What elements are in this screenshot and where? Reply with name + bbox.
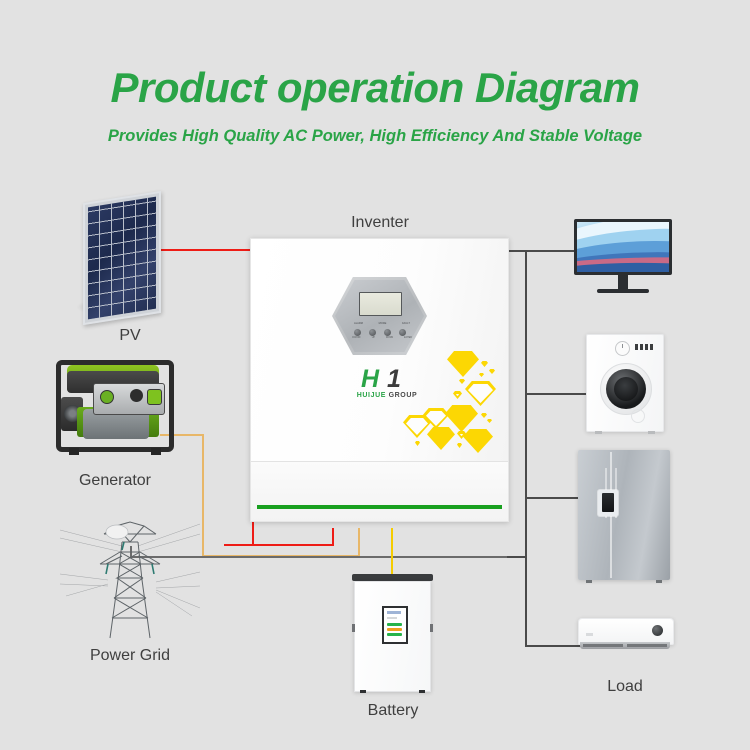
monitor-screen xyxy=(574,219,672,275)
diamond-icon-1 xyxy=(447,351,479,377)
wire-load-monitor xyxy=(525,250,581,252)
diamond-icon-9 xyxy=(489,369,495,374)
washer-door[interactable] xyxy=(600,363,652,415)
washer-program-dial[interactable] xyxy=(615,341,630,356)
battery-foot-right xyxy=(419,690,425,693)
battery-display-line xyxy=(387,617,397,619)
battery-display xyxy=(382,606,408,644)
washer-display-seg-2 xyxy=(640,344,643,350)
diamond-icon-7 xyxy=(463,429,493,453)
button-up[interactable] xyxy=(369,329,376,336)
battery-bar-2 xyxy=(387,628,402,631)
ac-sensor-icon xyxy=(652,625,663,636)
caption-down: DOWN xyxy=(386,337,393,343)
logo-numeral-one: 1 xyxy=(387,367,401,391)
power-grid-pylon xyxy=(60,512,200,640)
battery-body xyxy=(354,581,431,692)
battery-top-bar xyxy=(352,574,433,581)
diamond-icon-6 xyxy=(427,427,455,450)
battery-foot-left xyxy=(360,690,366,693)
wire-gen-vertical xyxy=(202,434,204,556)
ac-body xyxy=(578,618,674,645)
wire-load-bus xyxy=(525,250,527,647)
generator-foot-right xyxy=(151,448,161,455)
washer-door-glass xyxy=(606,369,646,409)
battery-bar-3 xyxy=(387,633,402,636)
monitor xyxy=(574,219,672,294)
ac-display xyxy=(586,633,593,636)
diamond-icon-3 xyxy=(445,405,478,432)
caption-enter: ENTER xyxy=(404,337,412,343)
washer-drum xyxy=(614,377,638,401)
washer-foot-left xyxy=(595,431,602,434)
pv-frame xyxy=(83,191,161,325)
label-load: Load xyxy=(565,678,685,696)
washer-display-seg-4 xyxy=(650,344,653,350)
logo-word-huijue: HUIJUE xyxy=(357,392,386,399)
inverter-footer: CAUTION SOLAR INVERTER Pure Sine Wave In… xyxy=(251,461,508,521)
diamond-icon-12 xyxy=(453,391,462,399)
indicator-labels: ALARM MODE FAULT xyxy=(354,322,410,327)
page-subtitle: Provides High Quality AC Power, High Eff… xyxy=(0,127,750,146)
wire-pv-horizontal xyxy=(150,249,254,251)
button-enter[interactable] xyxy=(399,329,406,336)
diamond-icon-10 xyxy=(479,373,484,377)
label-battery: Battery xyxy=(333,702,453,720)
diamond-icon-13 xyxy=(481,413,487,418)
air-conditioner xyxy=(578,618,672,651)
indicator-label-alarm: ALARM xyxy=(354,322,363,327)
diamond-icon-8 xyxy=(481,361,488,367)
inverter-button-captions: ON/OFF UP DOWN ENTER xyxy=(352,337,412,343)
diamond-icon-17 xyxy=(415,441,420,446)
wire-pv-bottom xyxy=(224,544,334,546)
inverter-green-bar xyxy=(257,505,502,509)
wire-load-feed xyxy=(507,556,527,558)
washer-control-panel xyxy=(593,340,658,355)
battery-unit xyxy=(354,574,431,692)
wire-load-top xyxy=(507,250,527,252)
indicator-label-mode: MODE xyxy=(379,322,387,327)
battery-bar-1 xyxy=(387,623,402,626)
washer-display-seg-1 xyxy=(635,344,638,350)
label-inverter: Inventer xyxy=(320,214,440,232)
washer-filter-cap xyxy=(631,409,645,423)
fridge-foot-left xyxy=(586,580,592,583)
wire-load-ac xyxy=(525,645,583,647)
monitor-stand-base xyxy=(597,289,649,293)
logo-letter-h: H xyxy=(361,367,377,391)
diamond-icon-2 xyxy=(465,381,496,406)
battery-bracket-right xyxy=(430,624,433,632)
monitor-wallpaper xyxy=(577,222,669,272)
washing-machine xyxy=(586,334,664,432)
indicator-label-fault: FAULT xyxy=(402,322,410,327)
battery-bracket-left xyxy=(352,624,355,632)
wire-gen-riser xyxy=(358,528,360,556)
inverter-unit: ALARM MODE FAULT ON/OFF UP DOWN ENTER xyxy=(250,238,509,522)
diamond-icon-14 xyxy=(487,419,492,423)
generator-frame xyxy=(56,360,174,452)
washer-foot-right xyxy=(648,431,655,434)
wire-battery-vertical xyxy=(391,528,393,576)
battery-display-logo xyxy=(387,611,401,614)
fridge-foot-right xyxy=(656,580,662,583)
wire-load-washer xyxy=(525,393,591,395)
page-title: Product operation Diagram xyxy=(0,64,750,112)
diamond-icon-11 xyxy=(459,379,465,384)
decorative-diamonds xyxy=(401,351,506,463)
pv-cells xyxy=(88,197,156,320)
inverter-face: ALARM MODE FAULT ON/OFF UP DOWN ENTER xyxy=(251,239,508,461)
wire-pv-riser xyxy=(332,528,334,546)
label-power-grid: Power Grid xyxy=(70,647,190,665)
generator xyxy=(53,357,177,455)
pv-panel xyxy=(83,191,161,325)
caption-up: UP xyxy=(372,337,375,343)
ac-slat-left xyxy=(583,644,623,647)
caption-onoff: ON/OFF xyxy=(352,337,361,343)
fridge-dispenser-recess xyxy=(602,493,614,512)
ac-slat-right xyxy=(627,644,667,647)
button-down[interactable] xyxy=(384,329,391,336)
label-pv: PV xyxy=(70,327,190,345)
product-operation-diagram: Product operation Diagram Provides High … xyxy=(0,0,750,750)
button-onoff[interactable] xyxy=(354,329,361,336)
wire-load-fridge xyxy=(525,497,583,499)
monitor-stand-neck xyxy=(618,275,628,289)
hex-bezel xyxy=(332,277,427,355)
inverter-display-panel[interactable]: ALARM MODE FAULT ON/OFF UP DOWN ENTER xyxy=(332,277,427,355)
diamond-icon-16 xyxy=(457,443,462,448)
generator-foot-left xyxy=(69,448,79,455)
fridge-water-dispenser[interactable] xyxy=(598,490,618,516)
washer-display-seg-3 xyxy=(645,344,648,350)
refrigerator xyxy=(578,450,670,580)
label-generator: Generator xyxy=(55,472,175,490)
ac-vent xyxy=(580,642,670,649)
lcd-screen xyxy=(359,292,402,316)
